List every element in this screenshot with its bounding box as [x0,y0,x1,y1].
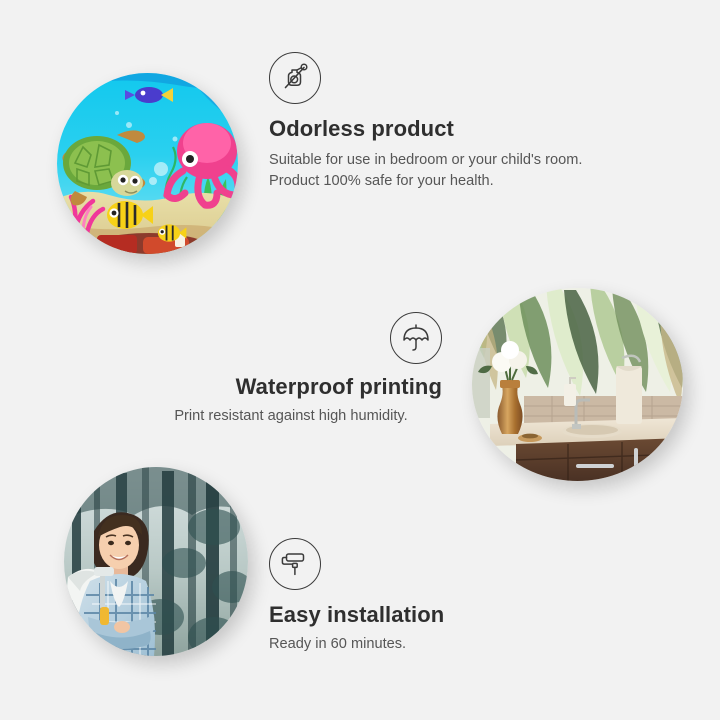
photo-forest [64,467,248,656]
feature-description: Ready in 60 minutes. [269,634,444,655]
photo-bathroom [472,288,683,481]
feature-title: Waterproof printing [140,374,442,400]
feature-odorless: Odorless product Suitable for use in bed… [269,52,599,191]
feature-panel: Odorless product Suitable for use in bed… [0,0,720,720]
bathroom-photo [472,288,683,481]
paint-roller-icon [269,538,321,590]
umbrella-icon [390,312,442,364]
forest-installer-photo [64,467,248,656]
feature-waterproof: Waterproof printing Print resistant agai… [140,312,442,427]
feature-description: Print resistant against high humidity. [140,406,442,427]
feature-title: Easy installation [269,602,444,628]
feature-description: Suitable for use in bedroom or your chil… [269,150,599,191]
underwater-illustration [57,73,238,254]
no-odor-perfume-bottle-icon [269,52,321,104]
feature-installation: Easy installation Ready in 60 minutes. [269,538,444,655]
photo-underwater [57,73,238,254]
feature-title: Odorless product [269,116,599,142]
